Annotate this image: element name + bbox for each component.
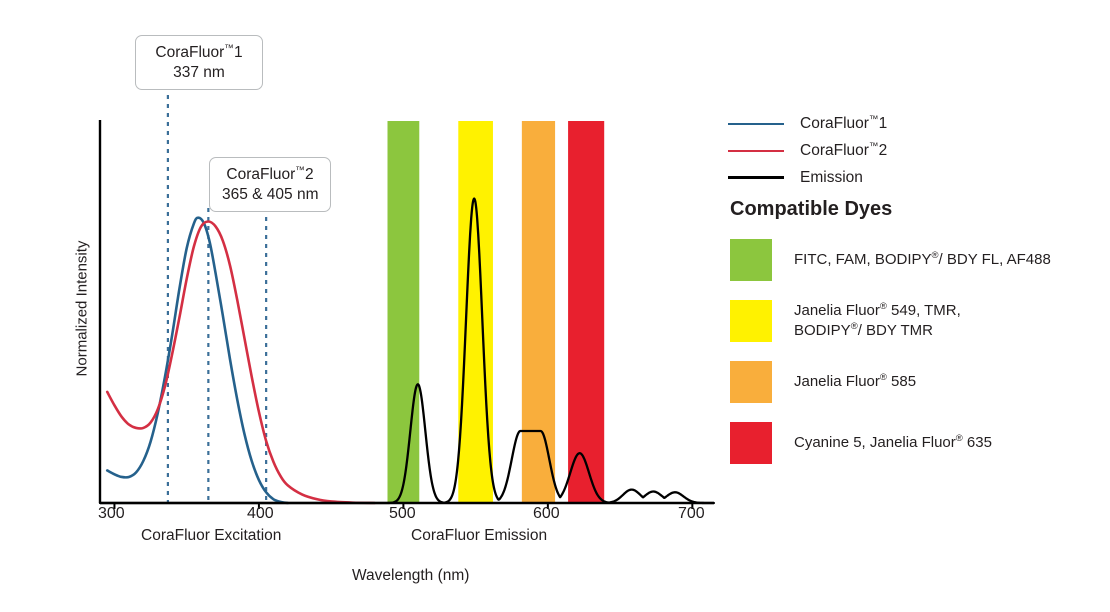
- section-label-emission: CoraFluor Emission: [411, 527, 547, 545]
- dye-color-swatch: [730, 300, 772, 342]
- x-axis-label: Wavelength (nm): [352, 567, 469, 585]
- legend-line-swatch: [728, 176, 784, 179]
- legend-item-1: CoraFluor™1: [728, 110, 1098, 137]
- excitation-curve-d42f43: [107, 222, 374, 504]
- callout-1-line1: CoraFluor™1: [148, 43, 250, 63]
- compatible-dyes-title: Compatible Dyes: [730, 198, 1102, 221]
- excitation-curve-25618c: [107, 218, 288, 503]
- xtick-400: 400: [247, 505, 274, 523]
- dye-label: FITC, FAM, BODIPY®/ BDY FL, AF488: [794, 250, 1051, 270]
- dye-row-2: Janelia Fluor® 549, TMR,BODIPY®/ BDY TMR: [730, 300, 1102, 342]
- legend-item-label: Emission: [800, 169, 863, 187]
- red-band: [568, 121, 604, 503]
- callout-1-line2: 337 nm: [148, 63, 250, 83]
- orange-band: [522, 121, 555, 503]
- dye-label: Cyanine 5, Janelia Fluor® 635: [794, 433, 992, 453]
- dye-label: Janelia Fluor® 585: [794, 372, 916, 392]
- callout-corafluor2: CoraFluor™2 365 & 405 nm: [209, 157, 331, 212]
- legend-item-2: CoraFluor™2: [728, 137, 1098, 164]
- dye-row-4: Cyanine 5, Janelia Fluor® 635: [730, 422, 1102, 464]
- compatible-dyes-panel: Compatible Dyes FITC, FAM, BODIPY®/ BDY …: [730, 198, 1102, 483]
- section-label-excitation: CoraFluor Excitation: [141, 527, 281, 545]
- compatible-dyes-list: FITC, FAM, BODIPY®/ BDY FL, AF488Janelia…: [730, 239, 1102, 464]
- dye-color-swatch: [730, 361, 772, 403]
- legend-item-3: Emission: [728, 164, 1098, 191]
- dye-color-swatch: [730, 239, 772, 281]
- y-axis-label: Normalized Intensity: [74, 219, 91, 399]
- legend-line-swatch: [728, 123, 784, 125]
- xtick-600: 600: [533, 505, 560, 523]
- legend-item-label: CoraFluor™1: [800, 114, 887, 133]
- xtick-700: 700: [678, 505, 705, 523]
- callout-corafluor1: CoraFluor™1 337 nm: [135, 35, 263, 90]
- dye-row-3: Janelia Fluor® 585: [730, 361, 1102, 403]
- fluorescence-spectra-figure: CoraFluor™1 337 nm CoraFluor™2 365 & 405…: [0, 0, 1110, 612]
- dye-row-1: FITC, FAM, BODIPY®/ BDY FL, AF488: [730, 239, 1102, 281]
- callout-2-line1: CoraFluor™2: [222, 165, 318, 185]
- yellow-band: [458, 121, 493, 503]
- xtick-300: 300: [98, 505, 125, 523]
- legend-item-label: CoraFluor™2: [800, 141, 887, 160]
- dye-color-swatch: [730, 422, 772, 464]
- dye-label: Janelia Fluor® 549, TMR,BODIPY®/ BDY TMR: [794, 301, 961, 341]
- series-legend: CoraFluor™1CoraFluor™2Emission: [728, 110, 1098, 191]
- legend-line-swatch: [728, 150, 784, 152]
- green-band: [387, 121, 419, 503]
- callout-2-line2: 365 & 405 nm: [222, 185, 318, 205]
- xtick-500: 500: [389, 505, 416, 523]
